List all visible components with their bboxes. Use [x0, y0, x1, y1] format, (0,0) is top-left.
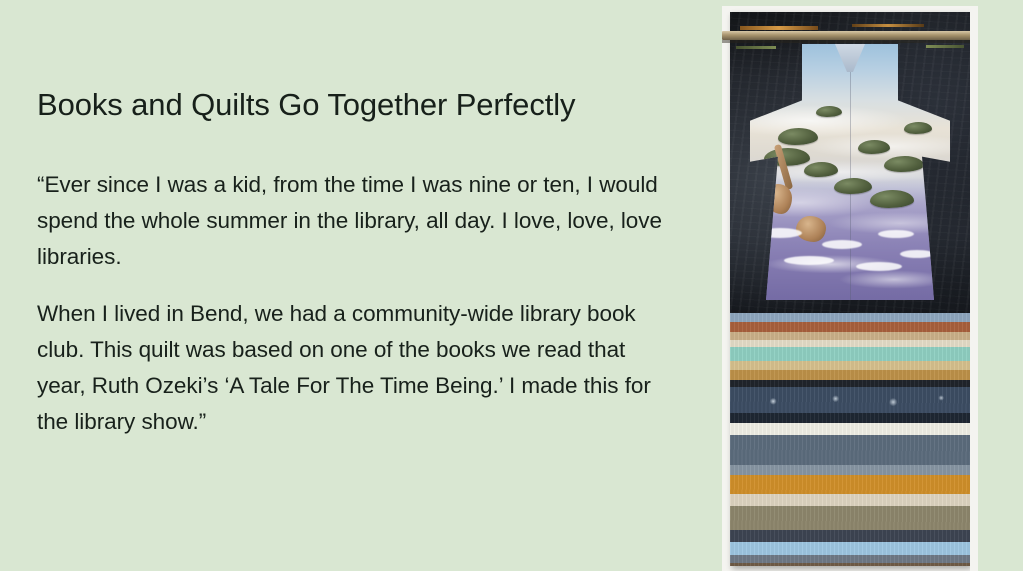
pine-tree-icon — [778, 128, 818, 145]
photo-right-margin — [970, 6, 978, 571]
wave-crest — [822, 240, 862, 249]
gold-accent-strip-right — [852, 24, 924, 27]
quilt-band-gold-ochre — [730, 370, 970, 380]
gold-accent-strip-left — [740, 26, 818, 30]
quilt-band-slate-blue-sky — [730, 313, 970, 322]
pine-tree-icon — [804, 162, 838, 177]
green-accent-strip-left — [736, 46, 776, 49]
wave-crest — [856, 262, 902, 271]
quilt-band-olive-khaki — [730, 506, 970, 530]
pine-tree-icon — [884, 156, 924, 172]
quilt-band-deep-navy — [730, 413, 970, 423]
quilt-band-cream — [730, 340, 970, 347]
quilt-band-dark-charcoal — [730, 380, 970, 387]
slide-canvas: Books and Quilts Go Together Perfectly “… — [0, 0, 1023, 571]
quilt-band-light-blue — [730, 542, 970, 555]
quilt-strata-bands — [730, 313, 970, 566]
slide-text-column: Books and Quilts Go Together Perfectly “… — [37, 86, 662, 440]
wave-crest — [900, 250, 934, 258]
quote-paragraph-1: “Ever since I was a kid, from the time I… — [37, 167, 662, 275]
quilt-band-white-ribbon — [730, 423, 970, 435]
pine-tree-icon — [904, 122, 932, 134]
pine-tree-icon — [870, 190, 914, 208]
pine-tree-icon — [834, 178, 872, 194]
quilt-band-slate-blue — [730, 435, 970, 465]
rock-shape — [796, 216, 826, 242]
wave-crest — [878, 230, 914, 238]
quilt-band-steel-grey — [730, 465, 970, 475]
hanging-rod-shadow — [722, 40, 978, 43]
kimono-center-seam — [850, 44, 851, 300]
quilt-photo — [722, 6, 978, 571]
quilt-artwork — [730, 12, 970, 566]
kimono-collar — [835, 44, 865, 72]
wave-crest — [784, 256, 834, 265]
quilt-band-dark-slate — [730, 530, 970, 542]
quilt-band-tan-sand — [730, 332, 970, 340]
quilt-band-aqua-teal — [730, 347, 970, 361]
quilt-band-navy-with-dots — [730, 387, 970, 413]
quilt-band-rust-copper — [730, 322, 970, 332]
quilt-band-orange-gold — [730, 475, 970, 494]
quilt-band-brown-earth — [730, 563, 970, 566]
quilt-band-pale-gold — [730, 361, 970, 370]
quilt-band-cream-band — [730, 494, 970, 506]
pine-tree-icon — [816, 106, 842, 117]
quilt-band-grey-blue — [730, 555, 970, 563]
pine-tree-icon — [858, 140, 890, 154]
quote-paragraph-2: When I lived in Bend, we had a community… — [37, 296, 662, 440]
hanging-rod-icon — [722, 31, 978, 40]
green-accent-strip-right — [926, 45, 964, 48]
page-title: Books and Quilts Go Together Perfectly — [37, 86, 662, 123]
